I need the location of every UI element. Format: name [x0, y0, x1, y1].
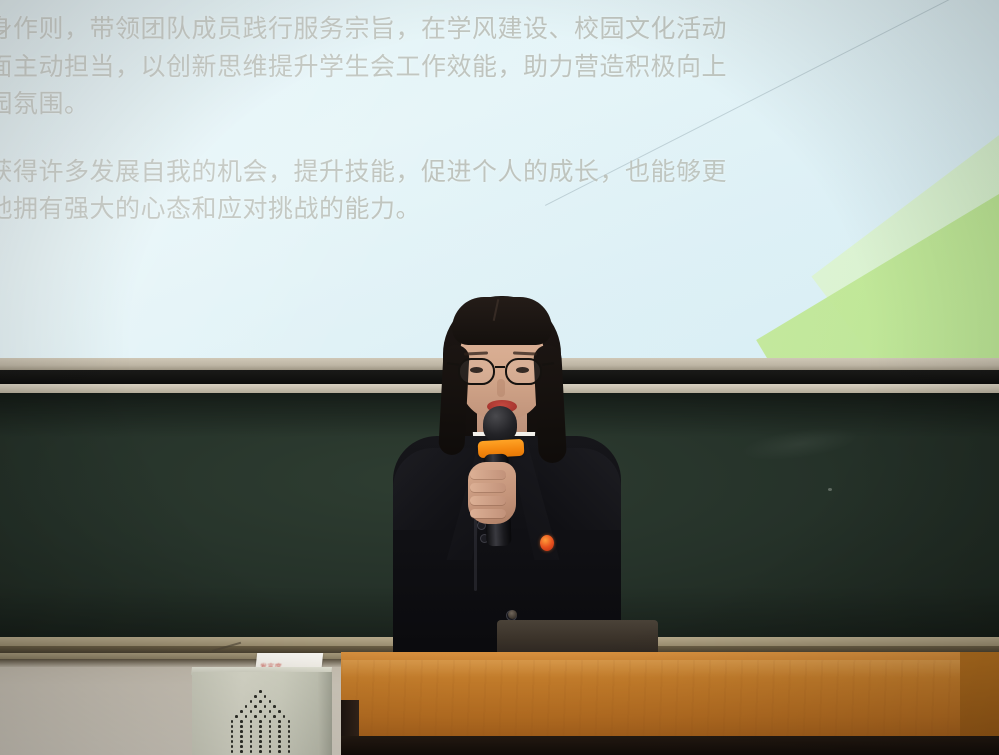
finger	[470, 509, 506, 518]
eyeglasses-bridge	[495, 366, 505, 368]
lectern-front-panel	[341, 660, 999, 738]
loudspeaker-side-panel	[318, 672, 332, 755]
nose	[497, 379, 505, 397]
confidence-monitor	[497, 620, 658, 656]
eyeglasses-lens-left	[458, 358, 495, 385]
finger	[470, 496, 506, 505]
lectern-right-edge	[960, 652, 999, 738]
loudspeaker-grille	[225, 690, 301, 755]
monitor-camera-icon	[508, 610, 517, 619]
photo-scene: 以身作则，带领团队成员践行服务宗旨，在学风建设、校园文化活动 方面主动担当，以创…	[0, 0, 999, 755]
lectern-base-shadow	[341, 736, 999, 755]
eyeglasses-lens-right	[505, 358, 542, 385]
microphone-head	[483, 406, 517, 442]
finger	[470, 483, 506, 492]
finger	[470, 470, 506, 479]
hair-top	[452, 297, 552, 345]
lapel-badge-icon	[540, 535, 554, 551]
